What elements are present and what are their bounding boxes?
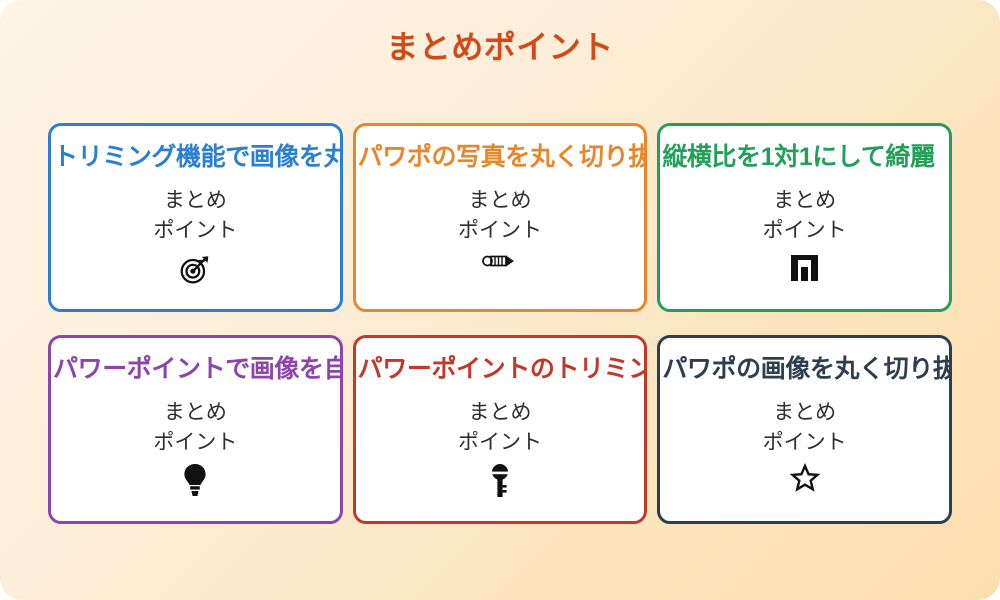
card-body-line-2: ポイント — [763, 428, 847, 458]
card-body-line-1: まとめ — [763, 398, 847, 428]
summary-card[interactable]: パワーポイントで画像を自 まとめ ポイント — [48, 335, 343, 524]
card-title: パワポの写真を丸く切り抜 — [356, 143, 645, 172]
card-body-line-1: まとめ — [763, 186, 847, 216]
key-icon — [488, 463, 512, 499]
card-title: パワポの画像を丸く切り抜 — [660, 355, 949, 384]
page-title: まとめポイント — [0, 28, 1000, 66]
slide-canvas: まとめポイント トリミング機能で画像を丸 まとめ ポイント — [0, 0, 1000, 600]
dart-target-icon — [178, 251, 212, 285]
card-title: パワーポイントのトリミン — [356, 355, 645, 384]
card-body-line-2: ポイント — [458, 216, 542, 246]
card-body-line-1: まとめ — [153, 398, 237, 428]
card-body: まとめ ポイント — [153, 186, 237, 247]
summary-card[interactable]: パワポの写真を丸く切り抜 まとめ ポイント — [353, 123, 648, 312]
card-body: まとめ ポイント — [458, 186, 542, 247]
summary-card[interactable]: パワーポイントのトリミン まとめ ポイント — [353, 335, 648, 524]
summary-card[interactable]: トリミング機能で画像を丸 まとめ ポイント — [48, 123, 343, 312]
card-body: まとめ ポイント — [763, 398, 847, 459]
card-body-line-2: ポイント — [763, 216, 847, 246]
star-icon — [790, 463, 820, 493]
card-title: 縦横比を1対1にして綺麗 — [660, 143, 949, 172]
card-body-line-1: まとめ — [458, 186, 542, 216]
pencil-icon — [480, 251, 520, 271]
card-title: パワーポイントで画像を自 — [51, 355, 340, 384]
summary-card[interactable]: パワポの画像を丸く切り抜 まとめ ポイント — [657, 335, 952, 524]
card-title: トリミング機能で画像を丸 — [51, 143, 340, 172]
bar-chart-icon — [788, 251, 822, 283]
card-body-line-2: ポイント — [458, 428, 542, 458]
card-body-line-1: まとめ — [458, 398, 542, 428]
card-body-line-2: ポイント — [153, 216, 237, 246]
summary-card-grid: トリミング機能で画像を丸 まとめ ポイント パワポの写真を丸く切り抜 — [48, 123, 952, 524]
card-body: まとめ ポイント — [153, 398, 237, 459]
card-body-line-1: まとめ — [153, 186, 237, 216]
card-body: まとめ ポイント — [763, 186, 847, 247]
card-body: まとめ ポイント — [458, 398, 542, 459]
summary-card[interactable]: 縦横比を1対1にして綺麗 まとめ ポイント — [657, 123, 952, 312]
card-body-line-2: ポイント — [153, 428, 237, 458]
lightbulb-icon — [182, 463, 208, 497]
